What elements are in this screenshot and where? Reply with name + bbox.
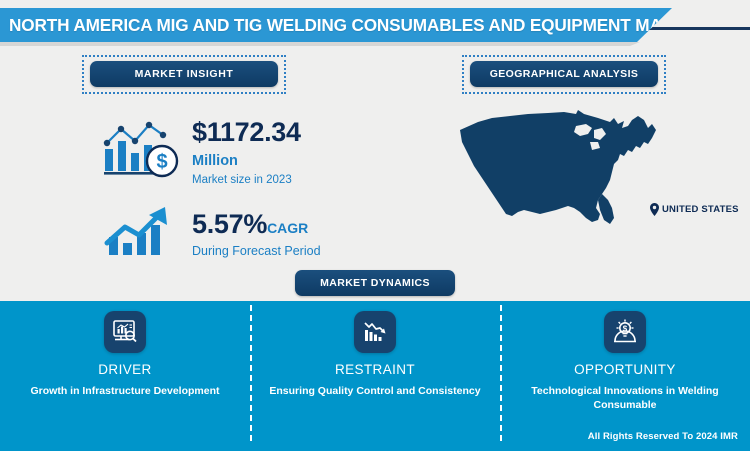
restraint-title: RESTRAINT	[335, 362, 415, 377]
footer-copyright: All Rights Reserved To 2024 IMR	[588, 431, 738, 442]
cagr-suffix: CAGR	[267, 220, 308, 236]
title-banner-bar: NORTH AMERICA MIG AND TIG WELDING CONSUM…	[0, 8, 672, 42]
cagr-caption: During Forecast Period	[192, 244, 321, 258]
svg-text:$: $	[156, 151, 167, 173]
opportunity-title: OPPORTUNITY	[574, 362, 676, 377]
geographical-analysis-label: GEOGRAPHICAL ANALYSIS	[490, 68, 639, 80]
infographic-page: NORTH AMERICA MIG AND TIG WELDING CONSUM…	[0, 0, 750, 451]
dynamics-column-opportunity: $ OPPORTUNITY Technological Innovations …	[500, 301, 750, 419]
market-insight-header: MARKET INSIGHT	[90, 61, 278, 87]
dynamics-column-restraint: RESTRAINT Ensuring Quality Control and C…	[250, 301, 500, 419]
monitor-analytics-icon	[104, 311, 146, 353]
cagr-value: 5.57%	[192, 209, 267, 239]
page-title: NORTH AMERICA MIG AND TIG WELDING CONSUM…	[0, 15, 708, 36]
restraint-description: Ensuring Quality Control and Consistency	[269, 384, 480, 398]
united-states-pin-label: UNITED STATES	[650, 203, 739, 216]
opportunity-description: Technological Innovations in Welding Con…	[518, 384, 733, 412]
market-size-caption: Market size in 2023	[192, 174, 301, 186]
location-pin-icon	[650, 203, 659, 216]
united-states-map	[452, 108, 682, 238]
market-size-stat: $ $1172.34 Million Market size in 2023	[96, 116, 301, 188]
market-insight-label: MARKET INSIGHT	[135, 68, 234, 80]
market-size-value: $1172.34	[192, 118, 301, 146]
market-dynamics-label: MARKET DYNAMICS	[320, 277, 430, 289]
dynamics-column-driver: DRIVER Growth in Infrastructure Developm…	[0, 301, 250, 419]
driver-description: Growth in Infrastructure Development	[30, 384, 219, 398]
title-banner: NORTH AMERICA MIG AND TIG WELDING CONSUM…	[0, 8, 750, 42]
declining-chart-icon	[354, 311, 396, 353]
cagr-text: 5.57%CAGR During Forecast Period	[188, 210, 321, 257]
cagr-value-row: 5.57%CAGR	[192, 210, 321, 238]
cagr-stat: 5.57%CAGR During Forecast Period	[96, 198, 321, 270]
growth-arrow-icon	[96, 198, 188, 270]
title-banner-shadow	[0, 42, 640, 46]
driver-title: DRIVER	[98, 362, 151, 377]
market-size-unit: Million	[192, 153, 301, 169]
geographical-analysis-header: GEOGRAPHICAL ANALYSIS	[470, 61, 658, 87]
lightbulb-dollar-icon: $	[604, 311, 646, 353]
bar-chart-dollar-icon: $	[96, 116, 188, 188]
market-dynamics-band: DRIVER Growth in Infrastructure Developm…	[0, 301, 750, 451]
united-states-label: UNITED STATES	[662, 204, 739, 215]
market-size-text: $1172.34 Million Market size in 2023	[188, 118, 301, 185]
svg-text:$: $	[623, 325, 628, 334]
market-dynamics-header: MARKET DYNAMICS	[295, 270, 455, 296]
